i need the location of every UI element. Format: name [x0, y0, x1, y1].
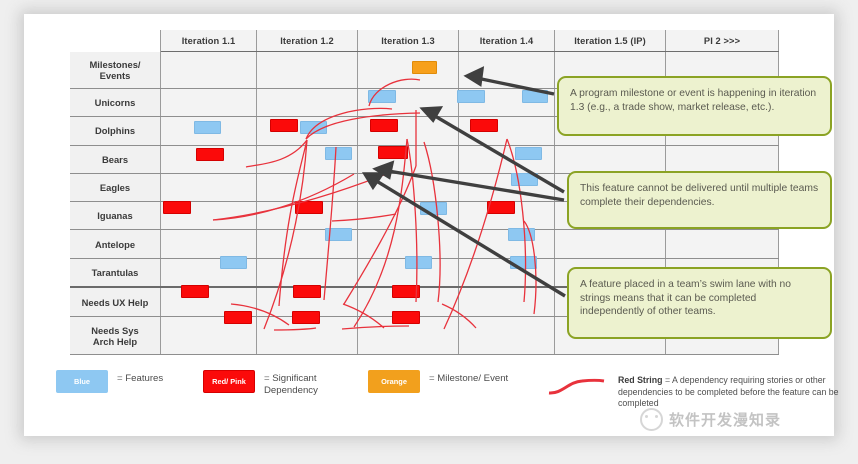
- legend-text-red-string: Red String = A dependency requiring stor…: [618, 375, 844, 410]
- row-label-tarantulas: Tarantulas: [70, 258, 161, 287]
- page-sheet: Iteration 1.1 Iteration 1.2 Iteration 1.…: [24, 14, 834, 436]
- feature-chip-blue[interactable]: [510, 256, 537, 269]
- cell-unicorns-1-1[interactable]: [161, 88, 257, 116]
- cell-eagles-1-4[interactable]: [459, 173, 555, 201]
- cell-antelope-1-5[interactable]: [555, 230, 666, 258]
- column-header-iteration-1-2: Iteration 1.2: [257, 30, 358, 52]
- feature-chip-red[interactable]: [224, 311, 252, 324]
- feature-chip-orange[interactable]: [412, 61, 437, 74]
- cell-milestones-1-2[interactable]: [257, 52, 358, 89]
- cell-bears-1-3[interactable]: [358, 145, 459, 173]
- table-row-antelope: Antelope: [70, 230, 779, 258]
- legend-item-orange: Orange = Milestone/ Event: [368, 370, 509, 393]
- feature-chip-blue[interactable]: [368, 90, 396, 103]
- row-label-bears: Bears: [70, 145, 161, 173]
- feature-chip-red[interactable]: [470, 119, 498, 132]
- cell-bears-pi2[interactable]: [666, 145, 779, 173]
- cell-eagles-1-1[interactable]: [161, 173, 257, 201]
- cell-milestones-1-3[interactable]: [358, 52, 459, 89]
- row-label-line-2: Arch Help: [70, 336, 160, 347]
- cell-eagles-1-3[interactable]: [358, 173, 459, 201]
- header-row: Iteration 1.1 Iteration 1.2 Iteration 1.…: [70, 30, 779, 52]
- feature-chip-blue[interactable]: [508, 228, 535, 241]
- feature-chip-red[interactable]: [292, 311, 320, 324]
- row-label-eagles: Eagles: [70, 173, 161, 201]
- cell-bears-1-5[interactable]: [555, 145, 666, 173]
- row-label-unicorns: Unicorns: [70, 88, 161, 116]
- row-label-dolphins: Dolphins: [70, 117, 161, 145]
- row-label-needs-sys-arch-help: Needs Sys Arch Help: [70, 317, 161, 355]
- legend-value: Features: [125, 373, 163, 384]
- legend-red-string-label: Red String: [618, 375, 662, 385]
- feature-chip-red[interactable]: [196, 148, 224, 161]
- cell-antelope-pi2[interactable]: [666, 230, 779, 258]
- feature-chip-blue[interactable]: [515, 147, 542, 160]
- row-label-needs-ux-help: Needs UX Help: [70, 287, 161, 317]
- row-label-iguanas: Iguanas: [70, 202, 161, 230]
- cell-antelope-1-4[interactable]: [459, 230, 555, 258]
- panda-icon: [640, 408, 663, 431]
- row-label-milestones: Milestones/ Events: [70, 52, 161, 89]
- feature-chip-blue[interactable]: [511, 173, 538, 186]
- legend-value: Milestone/ Event: [437, 373, 508, 384]
- watermark: 软件开发漫知录: [640, 408, 781, 431]
- legend-equals: =: [429, 373, 435, 384]
- callout-milestone: A program milestone or event is happenin…: [557, 76, 832, 136]
- legend-item-red: Red/ Pink = Significant Dependency: [203, 370, 354, 397]
- legend-equals: =: [264, 373, 270, 384]
- red-string-icon: [546, 376, 608, 398]
- callout-dependency: This feature cannot be delivered until m…: [567, 171, 832, 229]
- feature-chip-red[interactable]: [181, 285, 209, 298]
- legend-item-red-string: Red String = A dependency requiring stor…: [546, 372, 846, 410]
- cell-antelope-1-3[interactable]: [358, 230, 459, 258]
- feature-chip-red[interactable]: [293, 285, 321, 298]
- legend-item-blue: Blue = Features: [56, 370, 163, 393]
- cell-milestones-1-4[interactable]: [459, 52, 555, 89]
- watermark-text: 软件开发漫知录: [669, 409, 781, 430]
- cell-sys-1-4[interactable]: [459, 317, 555, 355]
- column-header-pi-2: PI 2 >>>: [666, 30, 779, 52]
- callout-independent: A feature placed in a team’s swim lane w…: [567, 267, 832, 339]
- feature-chip-red[interactable]: [295, 201, 323, 214]
- cell-ux-1-4[interactable]: [459, 287, 555, 317]
- feature-chip-red[interactable]: [370, 119, 398, 132]
- legend-swatch-blue: Blue: [56, 370, 108, 393]
- row-label-antelope: Antelope: [70, 230, 161, 258]
- row-label-line-2: Events: [70, 70, 160, 81]
- feature-chip-red[interactable]: [163, 201, 191, 214]
- cell-unicorns-1-2[interactable]: [257, 88, 358, 116]
- feature-chip-red[interactable]: [270, 119, 298, 132]
- feature-chip-blue[interactable]: [220, 256, 247, 269]
- feature-chip-red[interactable]: [378, 146, 408, 159]
- feature-chip-blue[interactable]: [194, 121, 221, 134]
- feature-chip-blue[interactable]: [405, 256, 432, 269]
- feature-chip-blue[interactable]: [325, 147, 352, 160]
- legend-text-red: = Significant Dependency: [264, 373, 354, 397]
- column-header-iteration-1-5-ip: Iteration 1.5 (IP): [555, 30, 666, 52]
- feature-chip-red[interactable]: [487, 201, 515, 214]
- legend-equals: =: [665, 375, 670, 385]
- legend-equals: =: [117, 373, 123, 384]
- cell-antelope-1-1[interactable]: [161, 230, 257, 258]
- feature-chip-blue[interactable]: [420, 202, 447, 215]
- feature-chip-red[interactable]: [392, 285, 420, 298]
- row-label-line-1: Milestones/: [70, 59, 160, 70]
- legend-swatch-orange: Orange: [368, 370, 420, 393]
- legend-text-orange: = Milestone/ Event: [429, 373, 509, 385]
- cell-tarantulas-1-4[interactable]: [459, 258, 555, 287]
- legend-text-blue: = Features: [117, 373, 163, 385]
- legend-swatch-red: Red/ Pink: [203, 370, 255, 393]
- legend-value: Significant Dependency: [264, 373, 318, 396]
- header-corner: [70, 30, 161, 52]
- table-header: Iteration 1.1 Iteration 1.2 Iteration 1.…: [70, 30, 779, 52]
- feature-chip-blue[interactable]: [300, 121, 327, 134]
- cell-tarantulas-1-2[interactable]: [257, 258, 358, 287]
- column-header-iteration-1-4: Iteration 1.4: [459, 30, 555, 52]
- table-row-bears: Bears: [70, 145, 779, 173]
- cell-eagles-1-2[interactable]: [257, 173, 358, 201]
- feature-chip-blue[interactable]: [325, 228, 352, 241]
- feature-chip-blue[interactable]: [457, 90, 485, 103]
- column-header-iteration-1-3: Iteration 1.3: [358, 30, 459, 52]
- feature-chip-blue[interactable]: [522, 90, 548, 103]
- column-header-iteration-1-1: Iteration 1.1: [161, 30, 257, 52]
- cell-milestones-1-1[interactable]: [161, 52, 257, 89]
- feature-chip-red[interactable]: [392, 311, 420, 324]
- row-label-line-1: Needs Sys: [70, 325, 160, 336]
